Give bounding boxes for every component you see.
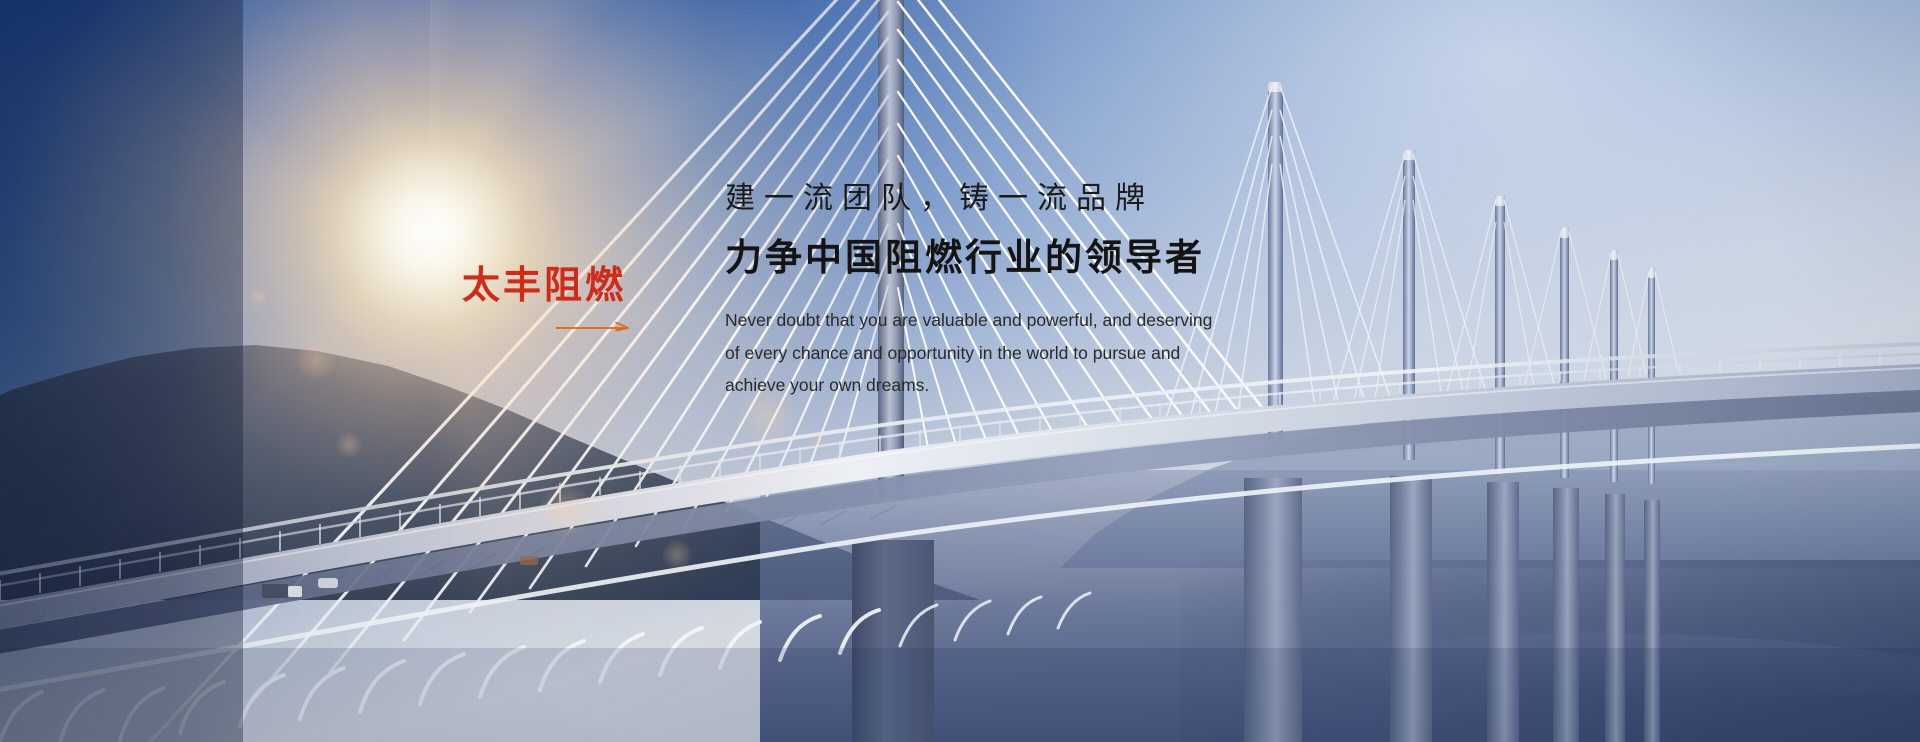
hero-subtext-line: Never doubt that you are valuable and po…: [725, 304, 1285, 336]
hero-copy-block: 建一流团队，铸一流品牌 力争中国阻燃行业的领导者 Never doubt tha…: [725, 180, 1425, 401]
arrow-right-icon: [556, 320, 634, 334]
hero-subtext: Never doubt that you are valuable and po…: [725, 304, 1285, 401]
hero-headline-primary: 建一流团队，铸一流品牌: [725, 180, 1425, 218]
hero-headline-secondary: 力争中国阻燃行业的领导者: [725, 234, 1425, 282]
hero-subtext-line: achieve your own dreams.: [725, 369, 1285, 401]
hero-subtext-line: of every chance and opportunity in the w…: [725, 337, 1285, 369]
hero-banner: 太丰阻燃 建一流团队，铸一流品牌 力争中国阻燃行业的领导者 Never doub…: [0, 0, 1920, 742]
brand-logo-text: 太丰阻燃: [462, 266, 662, 304]
brand-logo[interactable]: 太丰阻燃: [462, 266, 662, 334]
